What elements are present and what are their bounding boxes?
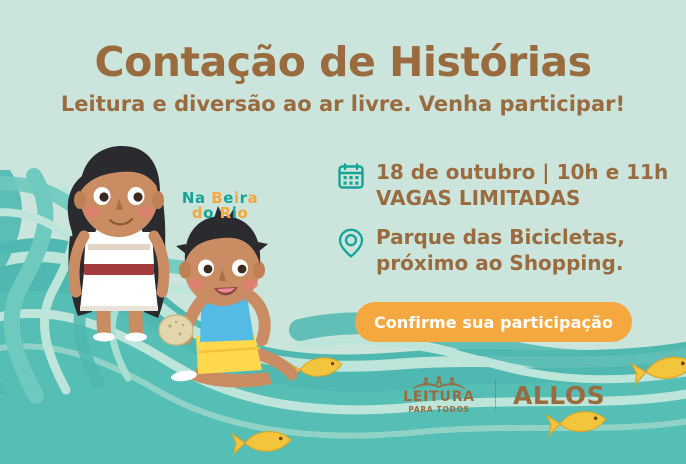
book-with-figures-icon <box>400 376 478 390</box>
event-date-line1: 18 de outubro | 10h e 11h <box>376 160 668 184</box>
event-location-line1: Parque das Bicicletas, <box>376 225 625 249</box>
leitura-para-todos-logo: LEITURA PARA TODOS <box>400 376 478 414</box>
event-date-row: 18 de outubro | 10h e 11h VAGAS LIMITADA… <box>338 160 678 211</box>
event-location-row: Parque das Bicicletas, próximo ao Shoppi… <box>338 225 678 276</box>
allos-logo: ALLOS <box>513 381 605 410</box>
boy-figure <box>159 206 292 387</box>
calendar-icon <box>338 163 364 193</box>
event-location-line2: próximo ao Shopping. <box>376 251 625 277</box>
leitura-logo-name: LEITURA <box>400 390 478 405</box>
event-details: 18 de outubro | 10h e 11h VAGAS LIMITADA… <box>338 160 678 290</box>
na-beira-do-rio-logo: Na Beira do Rio <box>170 191 270 222</box>
river-logo-line2: do Rio <box>170 206 270 221</box>
girl-figure <box>68 146 167 342</box>
confirm-participation-button[interactable]: Confirme sua participação <box>355 302 632 342</box>
map-pin-icon <box>338 228 364 258</box>
event-location-text: Parque das Bicicletas, próximo ao Shoppi… <box>376 225 625 276</box>
footer-logos: LEITURA PARA TODOS ALLOS <box>400 374 630 416</box>
leitura-logo-tagline: PARA TODOS <box>400 405 478 414</box>
event-date-line2: VAGAS LIMITADAS <box>376 186 668 212</box>
page-subtitle: Leitura e diversão ao ar livre. Venha pa… <box>0 92 686 116</box>
page-title: Contação de Histórias <box>0 38 686 86</box>
logo-divider <box>495 380 496 410</box>
event-date-text: 18 de outubro | 10h e 11h VAGAS LIMITADA… <box>376 160 668 211</box>
event-banner: Na Beira do Rio Contação de Histórias Le… <box>0 0 686 464</box>
